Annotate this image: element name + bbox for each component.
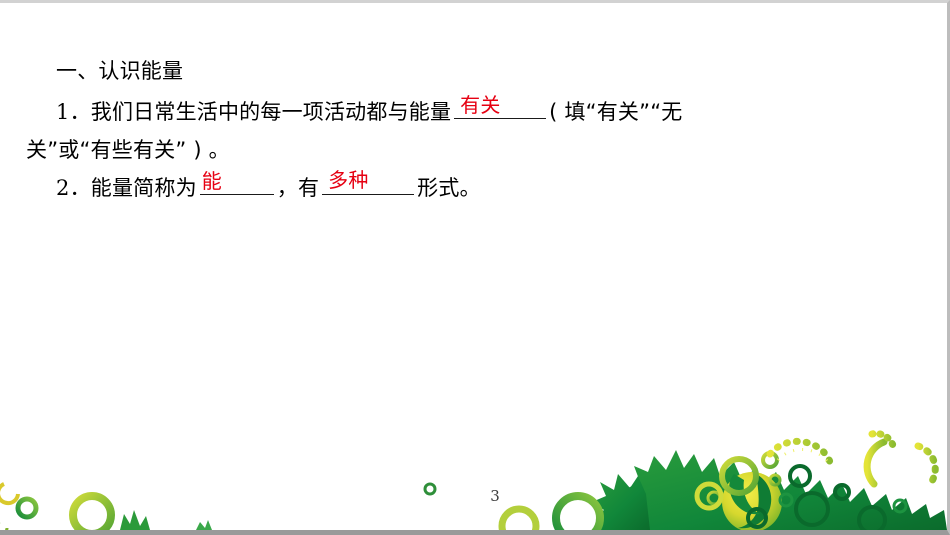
page-number: 3 <box>480 487 510 505</box>
leaf-inner-rings-light <box>780 494 906 512</box>
question-1-line-2: 关”或“有些有关” ) 。 <box>26 131 838 169</box>
answer-blank-1[interactable]: 有关 <box>454 94 546 119</box>
presentation-slide: 一、认识能量 1．我们日常生活中的每一项活动都与能量有关( 填“有关”“无 关”… <box>0 0 950 535</box>
question-1-separator: ． <box>70 100 91 124</box>
answer-text-3: 多种 <box>328 170 368 190</box>
answer-blank-2[interactable]: 能 <box>200 170 274 195</box>
question-2-segment-3: 形式。 <box>417 176 481 200</box>
yellow-green-orb <box>722 472 782 530</box>
question-2: 2．能量简称为能，有多种形式。 <box>26 169 838 207</box>
question-2-segment-2: ，有 <box>277 176 319 200</box>
leaf-sprout <box>120 510 212 530</box>
question-2-line-1: 2．能量简称为能，有多种形式。 <box>26 169 838 207</box>
question-1-text-after: ( 填“有关”“无 <box>549 100 682 124</box>
answer-text-2: 能 <box>202 171 222 191</box>
dotted-arcs <box>770 434 935 484</box>
floating-rings <box>18 453 780 530</box>
question-1-text-before: 我们日常生活中的每一项活动都与能量 <box>91 100 451 124</box>
question-2-segment-1: 能量简称为 <box>91 176 197 200</box>
answer-text-1: 有关 <box>460 95 500 115</box>
question-1: 1．我们日常生活中的每一项活动都与能量有关( 填“有关”“无 关”或“有些有关”… <box>26 93 838 169</box>
arc-highlights <box>778 450 830 466</box>
decorative-footer-graphic <box>0 410 947 530</box>
section-heading: 一、认识能量 <box>26 53 838 89</box>
question-1-line-1: 1．我们日常生活中的每一项活动都与能量有关( 填“有关”“无 <box>26 93 838 131</box>
slide-body: 一、认识能量 1．我们日常生活中的每一项活动都与能量有关( 填“有关”“无 关”… <box>26 53 838 207</box>
question-2-number: 2 <box>56 176 70 200</box>
leaf-inner-rings <box>748 466 885 530</box>
maple-leaf-shape <box>592 450 947 530</box>
answer-blank-3[interactable]: 多种 <box>322 170 414 195</box>
question-2-separator: ． <box>70 176 91 200</box>
question-1-number: 1 <box>56 100 70 124</box>
crescent-accents <box>0 484 18 530</box>
